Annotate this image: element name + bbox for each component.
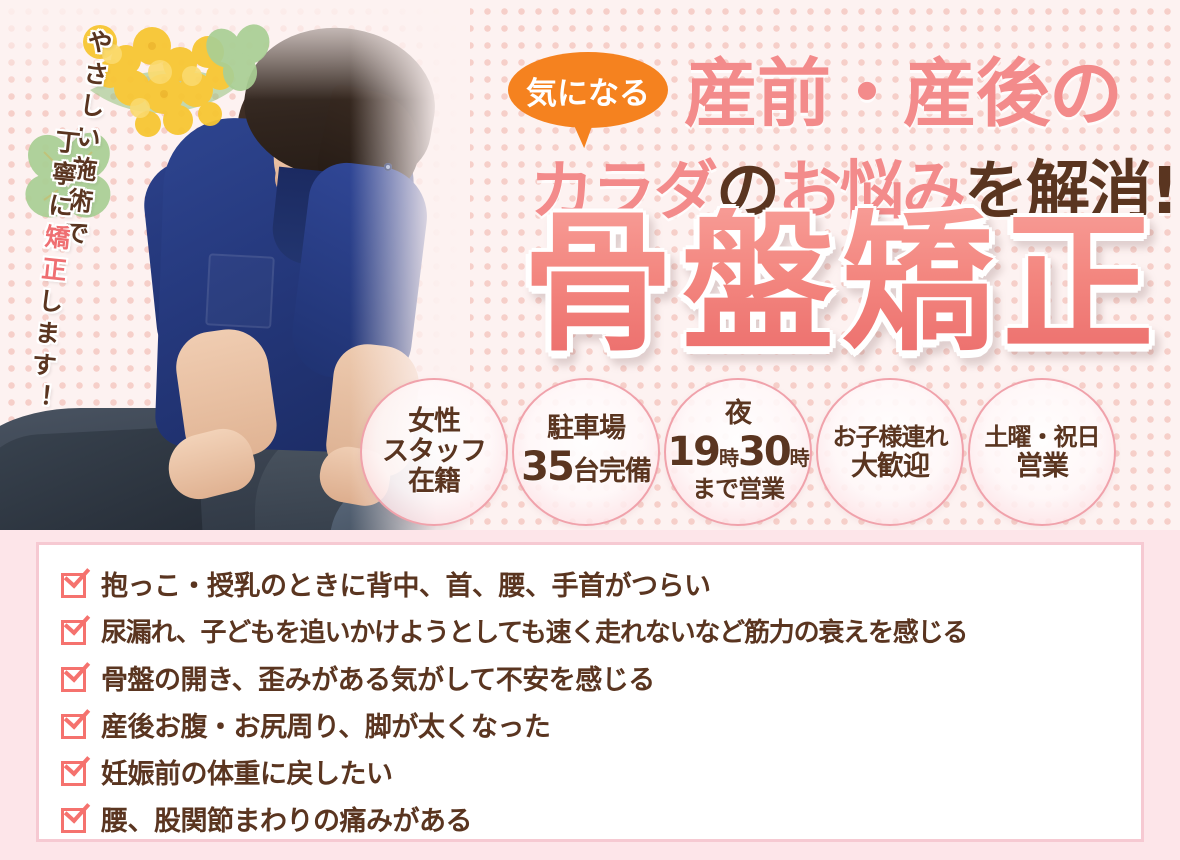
hero-section: やさしい施術で 丁寧に矯正します！ 気になる 産前・産後の カラダのお悩みを解消… <box>0 0 1180 530</box>
badge-parking-count: 35 <box>521 444 573 490</box>
checkbox-checked-icon <box>61 761 88 788</box>
badge-female-staff-line1: 女性 <box>408 406 460 437</box>
badge-parking-unit: 台完備 <box>573 456 651 487</box>
badge-female-staff-text: 女性 スタッフ 在籍 <box>382 407 486 498</box>
badge-kids-welcome-line2: 大歓迎 <box>851 451 929 482</box>
badge-weekend-open-text: 土曜・祝日 営業 <box>985 422 1100 482</box>
list-item: 骨盤の開き、歪みがある気がして不安を感じる <box>59 657 1141 703</box>
list-item: 妊娠前の体重に戻したい <box>59 751 1141 797</box>
badge-night-hours-text: 夜 19時30時 まで営業 <box>667 399 808 504</box>
checklist-item-text: 尿漏れ、子どもを追いかけようとしても速く走れないなど筋力の衰えを感じる <box>101 620 967 646</box>
badge-parking[interactable]: 駐車場 35台完備 <box>512 378 660 526</box>
checklist-box: 抱っこ・授乳のときに背中、首、腰、手首がつらい 尿漏れ、子どもを追いかけようとし… <box>36 542 1144 842</box>
checklist-item-text: 妊娠前の体重に戻したい <box>101 761 393 788</box>
list-item: 腰、股関節まわりの痛みがある <box>59 798 1141 844</box>
badge-parking-text: 駐車場 35台完備 <box>521 414 651 489</box>
list-item: 抱っこ・授乳のときに背中、首、腰、手首がつらい <box>59 563 1141 609</box>
badge-night-hours-unit2: 時 <box>790 446 809 470</box>
symptoms-checklist-panel: 抱っこ・授乳のときに背中、首、腰、手首がつらい 尿漏れ、子どもを追いかけようとし… <box>0 530 1180 860</box>
checkbox-checked-icon <box>61 667 88 694</box>
green-clover-icon <box>198 24 288 94</box>
page-title: 骨盤矯正 <box>522 208 1162 360</box>
list-item: 産後お腹・お尻周り、脚が太くなった <box>59 704 1141 750</box>
attention-speech-bubble: 気になる <box>508 52 668 128</box>
badge-weekend-open-line1: 土曜・祝日 <box>985 423 1100 451</box>
badge-female-staff[interactable]: 女性 スタッフ 在籍 <box>360 378 508 526</box>
feature-badges: 女性 スタッフ 在籍 駐車場 35台完備 夜 19時30時 まで営業 <box>360 378 1160 528</box>
checkbox-checked-icon <box>61 573 88 600</box>
checkbox-checked-icon <box>61 714 88 741</box>
vertical-tagline-line2-a: 丁寧に <box>43 127 82 226</box>
checklist-item-text: 腰、股関節まわりの痛みがある <box>101 808 472 835</box>
badge-kids-welcome-line1: お子様連れ <box>833 423 948 451</box>
checklist-item-text: 抱っこ・授乳のときに背中、首、腰、手首がつらい <box>101 573 711 600</box>
vertical-tagline-line2-b: 矯正 <box>36 223 72 290</box>
bubble-label: 気になる <box>526 68 650 113</box>
promo-banner: やさしい施術で 丁寧に矯正します！ 気になる 産前・産後の カラダのお悩みを解消… <box>0 0 1180 860</box>
badge-night-hours-num2: 30 <box>738 429 790 475</box>
badge-weekend-open-line2: 営業 <box>1016 451 1068 482</box>
badge-kids-welcome-text: お子様連れ 大歓迎 <box>833 422 948 482</box>
badge-weekend-open[interactable]: 土曜・祝日 営業 <box>968 378 1116 526</box>
badge-female-staff-line2: スタッフ <box>382 436 486 467</box>
checklist-item-text: 産後お腹・お尻周り、脚が太くなった <box>101 714 550 741</box>
checklist-item-text: 骨盤の開き、歪みがある気がして不安を感じる <box>101 667 655 694</box>
badge-night-hours-num1: 19 <box>667 429 719 475</box>
headline-line-1: 産前・産後の <box>684 34 1122 141</box>
checkbox-checked-icon <box>61 620 88 647</box>
checkbox-checked-icon <box>61 808 88 835</box>
badge-parking-line1: 駐車場 <box>547 413 625 444</box>
badge-night-hours-unit1: 時 <box>719 446 738 470</box>
badge-night-hours-line1: 夜 <box>725 398 751 429</box>
badge-night-hours-line3: まで営業 <box>692 475 784 503</box>
badge-kids-welcome[interactable]: お子様連れ 大歓迎 <box>816 378 964 526</box>
scrub-pocket <box>205 253 275 328</box>
badge-night-hours[interactable]: 夜 19時30時 まで営業 <box>664 378 812 526</box>
badge-female-staff-line3: 在籍 <box>408 466 460 497</box>
list-item: 尿漏れ、子どもを追いかけようとしても速く走れないなど筋力の衰えを感じる <box>59 610 1141 656</box>
